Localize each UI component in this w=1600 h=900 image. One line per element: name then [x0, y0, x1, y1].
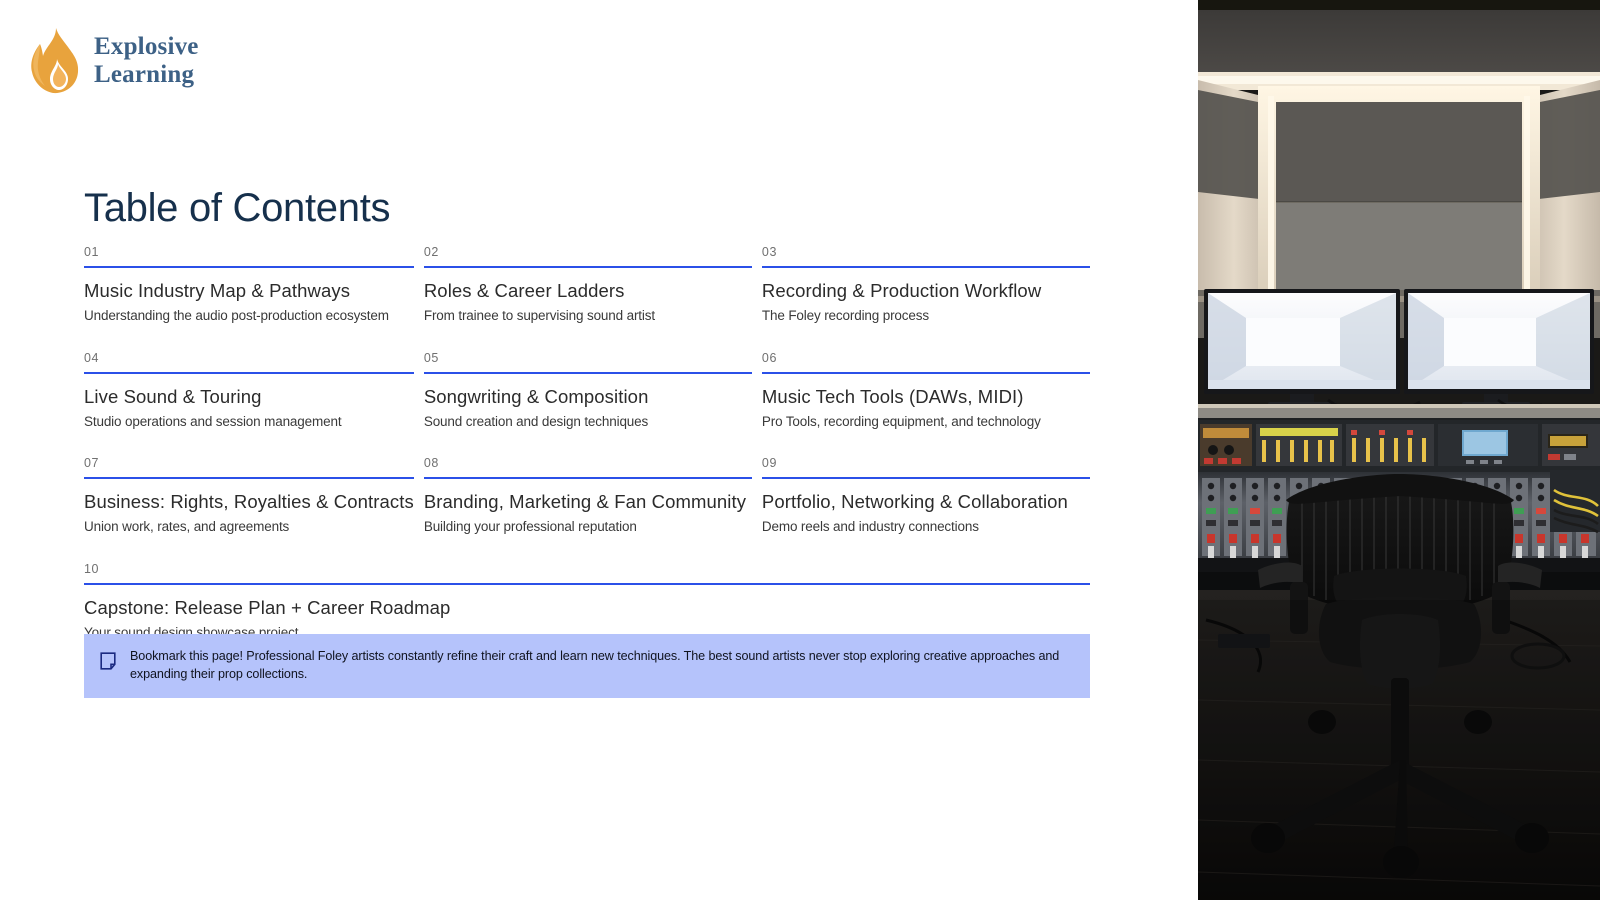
toc-number: 06 [762, 351, 1090, 372]
toc-divider [84, 477, 414, 479]
toc-item-06[interactable]: 06 Music Tech Tools (DAWs, MIDI) Pro Too… [762, 348, 1090, 454]
toc-heading: Music Tech Tools (DAWs, MIDI) [762, 385, 1090, 408]
toc-number: 03 [762, 245, 1090, 266]
studio-photo [1198, 0, 1600, 900]
toc-divider [762, 477, 1090, 479]
toc-heading: Business: Rights, Royalties & Contracts [84, 490, 414, 513]
callout-text: Bookmark this page! Professional Foley a… [130, 648, 1072, 684]
toc-heading: Songwriting & Composition [424, 385, 752, 408]
toc-heading: Roles & Career Ladders [424, 279, 752, 302]
toc-divider [84, 372, 414, 374]
toc-description: Building your professional reputation [424, 518, 752, 536]
toc-number: 07 [84, 456, 414, 477]
toc-number: 04 [84, 351, 414, 372]
toc-item-04[interactable]: 04 Live Sound & Touring Studio operation… [84, 348, 414, 454]
toc-item-05[interactable]: 05 Songwriting & Composition Sound creat… [424, 348, 752, 454]
flame-icon [26, 26, 82, 96]
toc-description: Pro Tools, recording equipment, and tech… [762, 413, 1090, 431]
toc-description: From trainee to supervising sound artist [424, 307, 752, 325]
toc-heading: Music Industry Map & Pathways [84, 279, 414, 302]
toc-divider [762, 266, 1090, 268]
callout-box: Bookmark this page! Professional Foley a… [84, 634, 1090, 698]
toc-description: The Foley recording process [762, 307, 1090, 325]
toc-divider [84, 266, 414, 268]
bookmark-note-icon [100, 652, 116, 670]
toc-divider [424, 266, 752, 268]
toc-number: 10 [84, 562, 1090, 583]
toc-divider [762, 372, 1090, 374]
slide-root: Explosive Learning Table of Contents 01 … [0, 0, 1600, 900]
toc-description: Demo reels and industry connections [762, 518, 1090, 536]
toc-number: 02 [424, 245, 752, 266]
toc-number: 08 [424, 456, 752, 477]
brand-name-line1: Explosive [94, 33, 199, 61]
toc-description: Sound creation and design techniques [424, 413, 752, 431]
toc-item-07[interactable]: 07 Business: Rights, Royalties & Contrac… [84, 453, 414, 559]
toc-item-09[interactable]: 09 Portfolio, Networking & Collaboration… [762, 453, 1090, 559]
toc-description: Studio operations and session management [84, 413, 414, 431]
toc-item-02[interactable]: 02 Roles & Career Ladders From trainee t… [424, 242, 752, 348]
toc-heading: Branding, Marketing & Fan Community [424, 490, 752, 513]
toc-description: Union work, rates, and agreements [84, 518, 414, 536]
toc-divider [84, 583, 1090, 585]
toc-number: 01 [84, 245, 414, 266]
toc-item-03[interactable]: 03 Recording & Production Workflow The F… [762, 242, 1090, 348]
toc-number: 05 [424, 351, 752, 372]
toc-number: 09 [762, 456, 1090, 477]
toc-grid: 01 Music Industry Map & Pathways Underst… [84, 242, 1090, 665]
toc-heading: Capstone: Release Plan + Career Roadmap [84, 596, 1090, 619]
toc-description: Understanding the audio post-production … [84, 307, 414, 325]
brand-wordmark: Explosive Learning [94, 33, 199, 89]
toc-heading: Portfolio, Networking & Collaboration [762, 490, 1090, 513]
brand-name-line2: Learning [94, 61, 199, 89]
toc-divider [424, 372, 752, 374]
studio-photo-illustration [1198, 0, 1600, 900]
content-panel: Explosive Learning Table of Contents 01 … [0, 0, 1198, 900]
toc-item-08[interactable]: 08 Branding, Marketing & Fan Community B… [424, 453, 752, 559]
toc-heading: Live Sound & Touring [84, 385, 414, 408]
brand-logo[interactable]: Explosive Learning [26, 26, 199, 96]
toc-heading: Recording & Production Workflow [762, 279, 1090, 302]
toc-divider [424, 477, 752, 479]
toc-item-01[interactable]: 01 Music Industry Map & Pathways Underst… [84, 242, 414, 348]
page-title: Table of Contents [84, 186, 390, 230]
